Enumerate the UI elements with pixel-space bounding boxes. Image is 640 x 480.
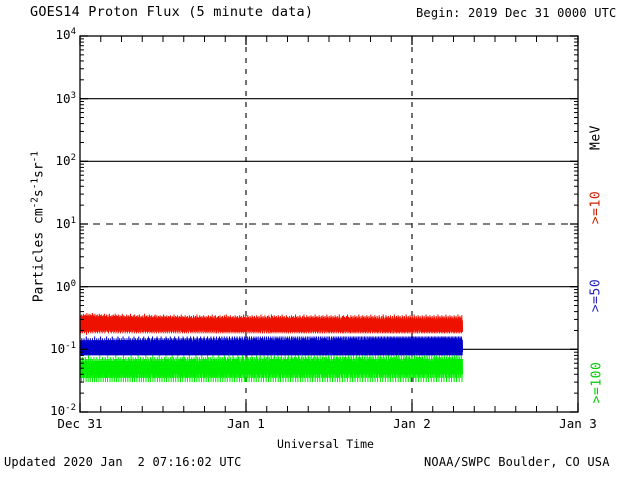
provider-label: NOAA/SWPC Boulder, CO USA [424,455,610,469]
goes-proton-flux-chart: GOES14 Proton Flux (5 minute data) Begin… [0,0,640,480]
data-series--100-mev [80,355,462,382]
updated-timestamp: Updated 2020 Jan 2 07:16:02 UTC [4,455,242,469]
data-series-layer [80,313,462,382]
data-series--50-mev [80,337,462,356]
data-series--10-mev [80,313,462,335]
plot-area [0,0,640,480]
